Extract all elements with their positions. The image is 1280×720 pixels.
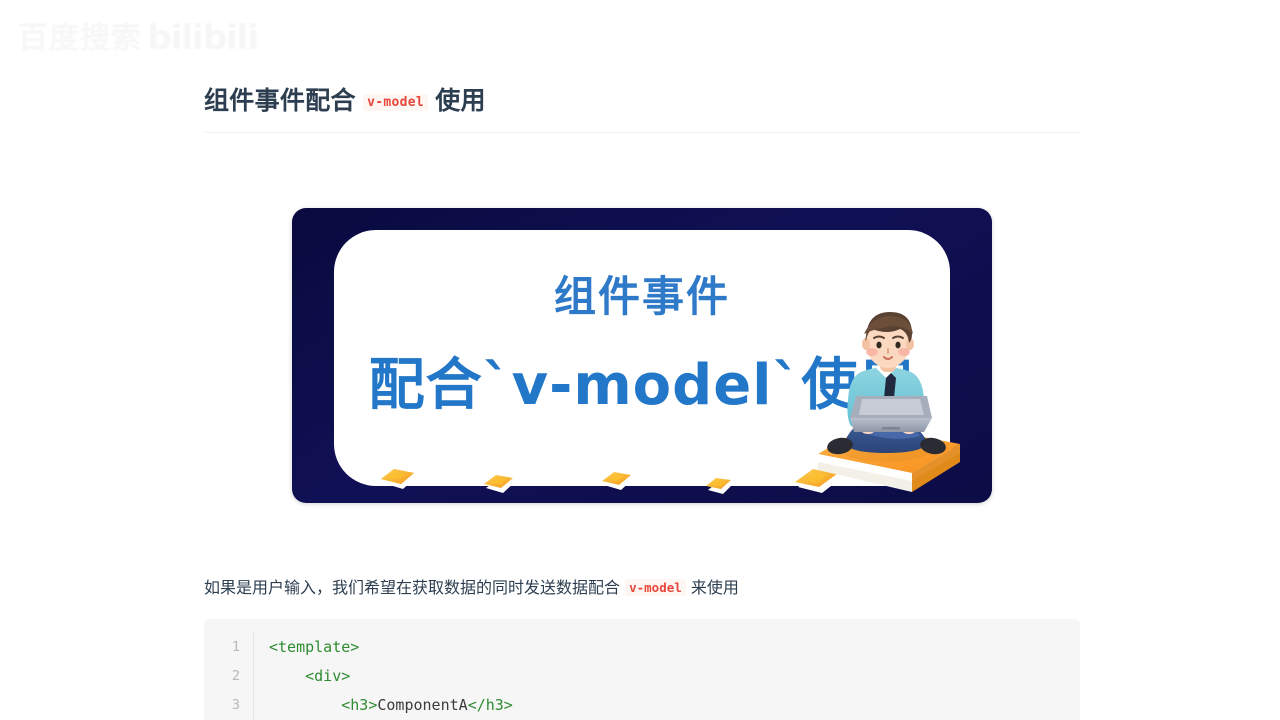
code-line: 1<template> bbox=[204, 633, 1080, 662]
code-token-tag: <template> bbox=[269, 638, 359, 656]
code-line-number: 3 bbox=[204, 691, 254, 720]
person-with-laptop-illustration bbox=[814, 310, 964, 495]
code-line-content: <template> bbox=[254, 633, 359, 662]
code-line: 3 <h3>ComponentA</h3> bbox=[204, 691, 1080, 720]
code-line-content: <div> bbox=[254, 662, 350, 691]
code-token-text: ComponentA bbox=[377, 696, 467, 714]
paragraph-inline-code: v-model bbox=[625, 579, 686, 596]
booklet-icon bbox=[482, 473, 518, 497]
code-line-content: <h3>ComponentA</h3> bbox=[254, 691, 513, 720]
body-paragraph: 如果是用户输入，我们希望在获取数据的同时发送数据配合 v-model 来使用 bbox=[204, 574, 1280, 602]
paragraph-prefix: 如果是用户输入，我们希望在获取数据的同时发送数据配合 bbox=[204, 578, 620, 597]
page-content: 组件事件配合 v-model 使用 组件事件 配合`v-model`使用 bbox=[204, 0, 1280, 720]
code-block[interactable]: 1<template>2 <div>3 <h3>ComponentA</h3> bbox=[204, 619, 1080, 720]
code-lines: 1<template>2 <div>3 <h3>ComponentA</h3> bbox=[204, 633, 1080, 720]
banner-image: 组件事件 配合`v-model`使用 bbox=[292, 208, 992, 503]
page-title-inline-code: v-model bbox=[363, 94, 428, 111]
code-line-number: 2 bbox=[204, 662, 254, 691]
page-title-suffix: 使用 bbox=[435, 86, 486, 115]
code-token-tag: <h3> bbox=[269, 696, 377, 714]
code-line: 2 <div> bbox=[204, 662, 1080, 691]
page-title: 组件事件配合 v-model 使用 bbox=[204, 0, 1080, 133]
page-title-prefix: 组件事件配合 bbox=[204, 86, 356, 115]
code-token-tag: <div> bbox=[269, 667, 350, 685]
code-line-number: 1 bbox=[204, 633, 254, 662]
paragraph-suffix: 来使用 bbox=[691, 578, 739, 597]
banner-image-wrapper: 组件事件 配合`v-model`使用 bbox=[292, 208, 992, 503]
booklet-icon bbox=[378, 467, 418, 493]
booklet-icon bbox=[704, 476, 736, 498]
code-token-tag: </h3> bbox=[468, 696, 513, 714]
booklet-icon bbox=[600, 470, 636, 494]
